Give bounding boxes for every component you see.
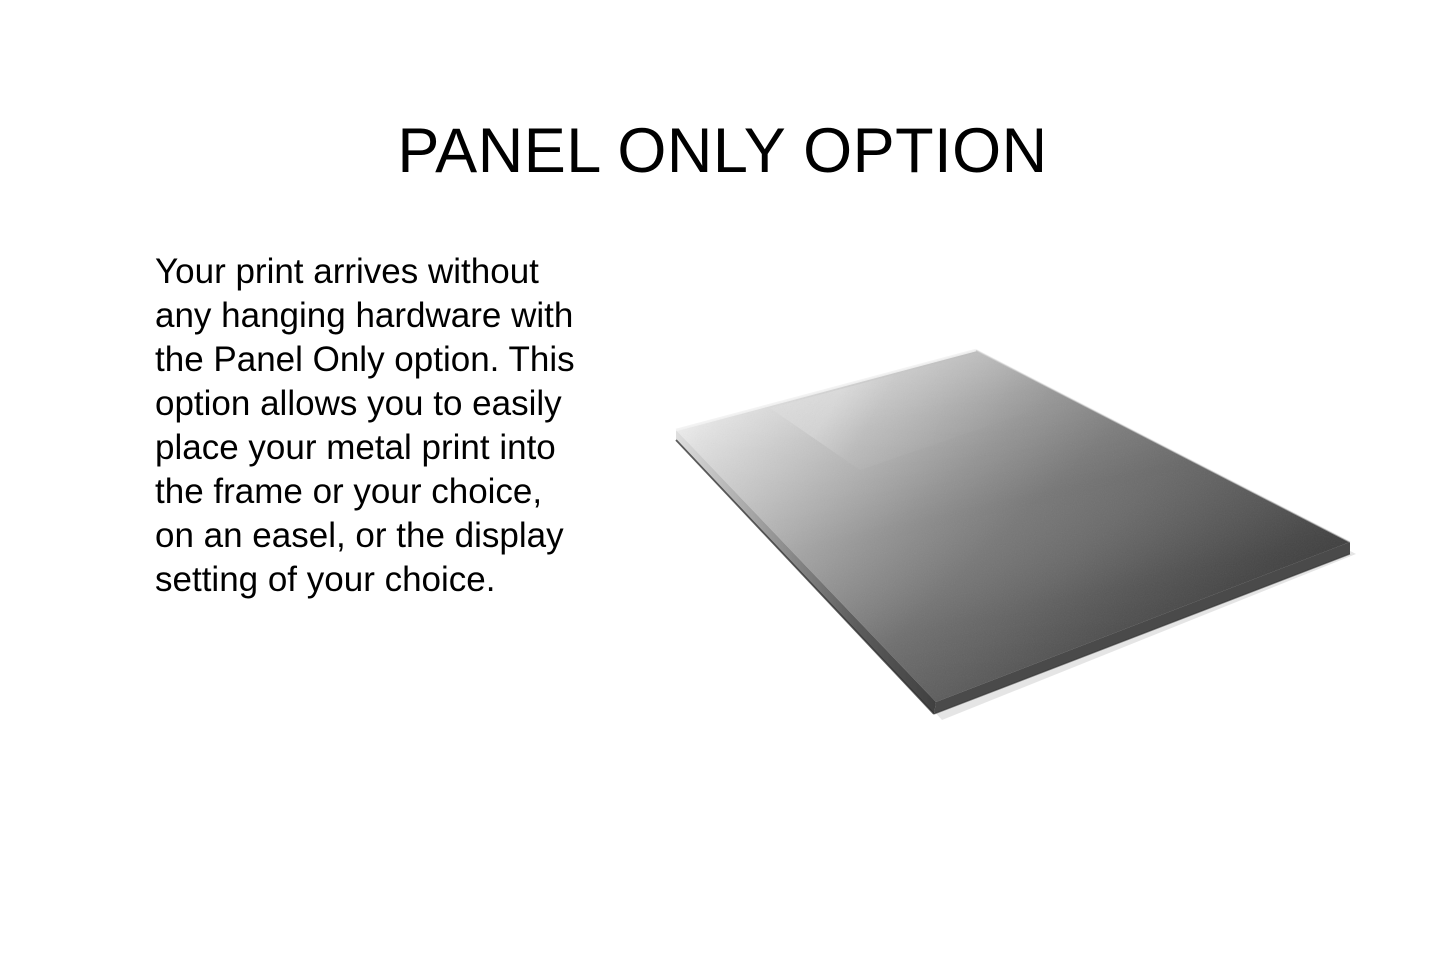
- body-paragraph: Your print arrives without any hanging h…: [155, 250, 575, 602]
- slide-canvas: PANEL ONLY OPTION Your print arrives wit…: [0, 0, 1445, 963]
- metal-panel-svg: [650, 330, 1370, 725]
- metal-panel-illustration: [650, 330, 1370, 725]
- page-title: PANEL ONLY OPTION: [0, 118, 1445, 184]
